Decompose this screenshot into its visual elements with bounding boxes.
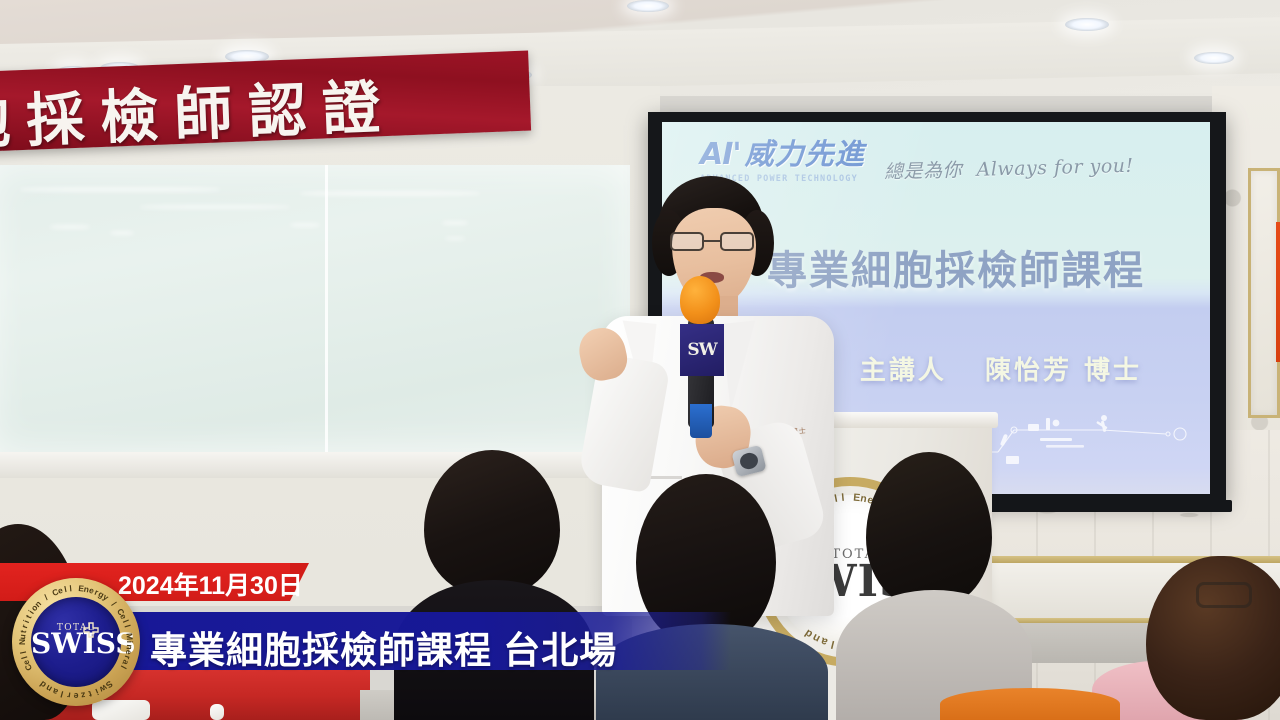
- event-title: 專業細胞採檢師課程 台北場: [150, 620, 617, 674]
- ai-logo-cn: 威力先進: [745, 140, 865, 169]
- wall-artwork: [1276, 222, 1280, 362]
- date-label: 2024年11月30日: [118, 566, 303, 602]
- microphone-base: [690, 404, 712, 438]
- ceiling-downlight: [1194, 52, 1234, 64]
- whiteboard: [0, 165, 630, 460]
- slide-tagline: 總是為你 Always for you!: [884, 151, 1134, 185]
- attendee-eyeglasses: [1196, 582, 1252, 608]
- slide-tagline-en: Always for you!: [976, 155, 1134, 181]
- microphone-flag-text: SW: [687, 340, 716, 360]
- presenter-glasses: [668, 232, 760, 252]
- ai-logo-mark: AI': [700, 140, 741, 170]
- slide-speaker-label: 主講人: [860, 356, 947, 386]
- brand-badge: Cell Nutrition / Cell Energy / Cell Mine…: [12, 578, 140, 706]
- slide-tagline-cn: 總是為你: [884, 159, 963, 183]
- table-object: [210, 704, 224, 720]
- photo-frame: 胞採檢師認證 AI' 威力先進 ADVANCED POWER TECHNOLOG…: [0, 0, 1280, 720]
- ceiling-downlight: [627, 0, 669, 12]
- brand-badge-ring-text: Cell Nutrition / Cell Energy / Cell Mine…: [12, 578, 140, 706]
- ceiling-downlight: [1065, 18, 1109, 31]
- microphone-logo-flag: SW: [680, 324, 724, 376]
- attendee-shoulders: [940, 688, 1120, 720]
- slide-speaker-name: 陳怡芳 博士: [985, 356, 1142, 386]
- microphone-head: [680, 276, 720, 324]
